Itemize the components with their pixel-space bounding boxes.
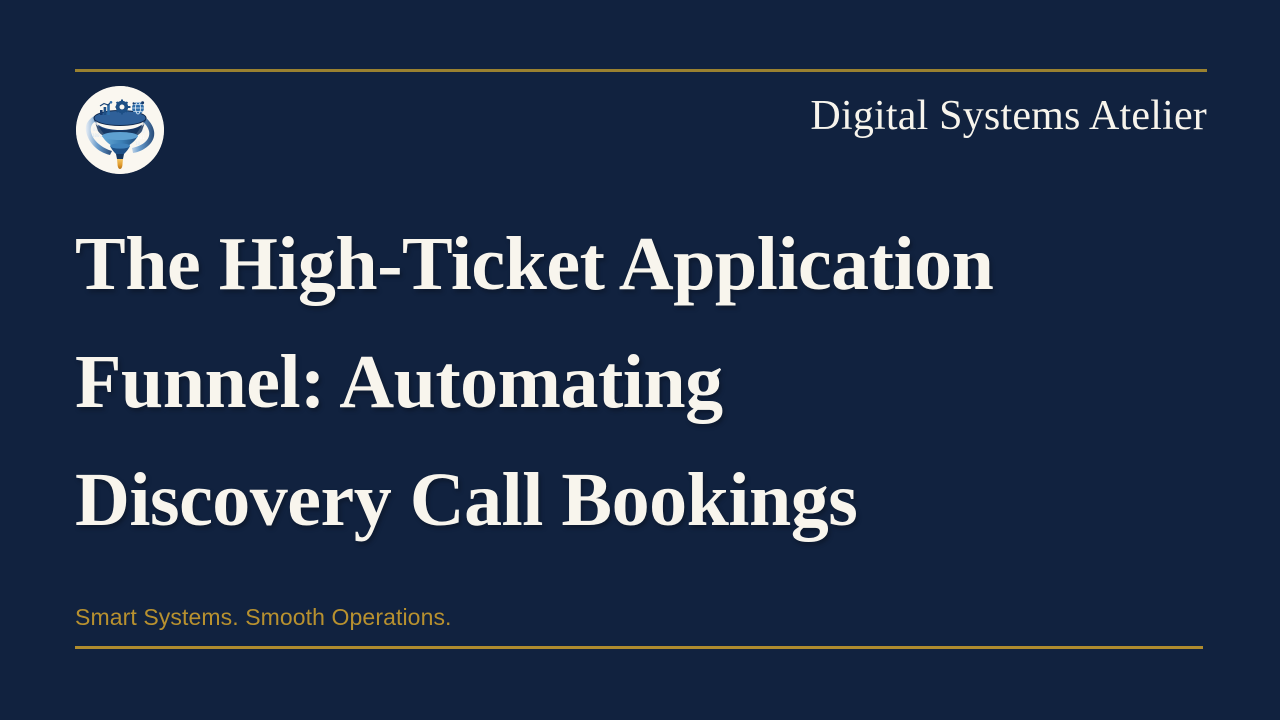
- bottom-divider-rule: [75, 646, 1203, 649]
- title-line-2: Funnel: Automating: [75, 323, 1215, 441]
- title-line-1: The High-Ticket Application: [75, 205, 1215, 323]
- svg-text:10: 10: [135, 141, 141, 146]
- page-title: The High-Ticket Application Funnel: Auto…: [75, 205, 1215, 559]
- top-divider-rule: [75, 69, 1207, 72]
- funnel-automation-logo: 0110 1001 010 0101 10: [76, 86, 164, 174]
- brand-name: Digital Systems Atelier: [810, 94, 1207, 138]
- title-slide: 0110 1001 010 0101 10: [0, 0, 1280, 720]
- tagline: Smart Systems. Smooth Operations.: [75, 604, 452, 631]
- brand-header: 0110 1001 010 0101 10: [0, 86, 1280, 176]
- title-line-3: Discovery Call Bookings: [75, 441, 1215, 559]
